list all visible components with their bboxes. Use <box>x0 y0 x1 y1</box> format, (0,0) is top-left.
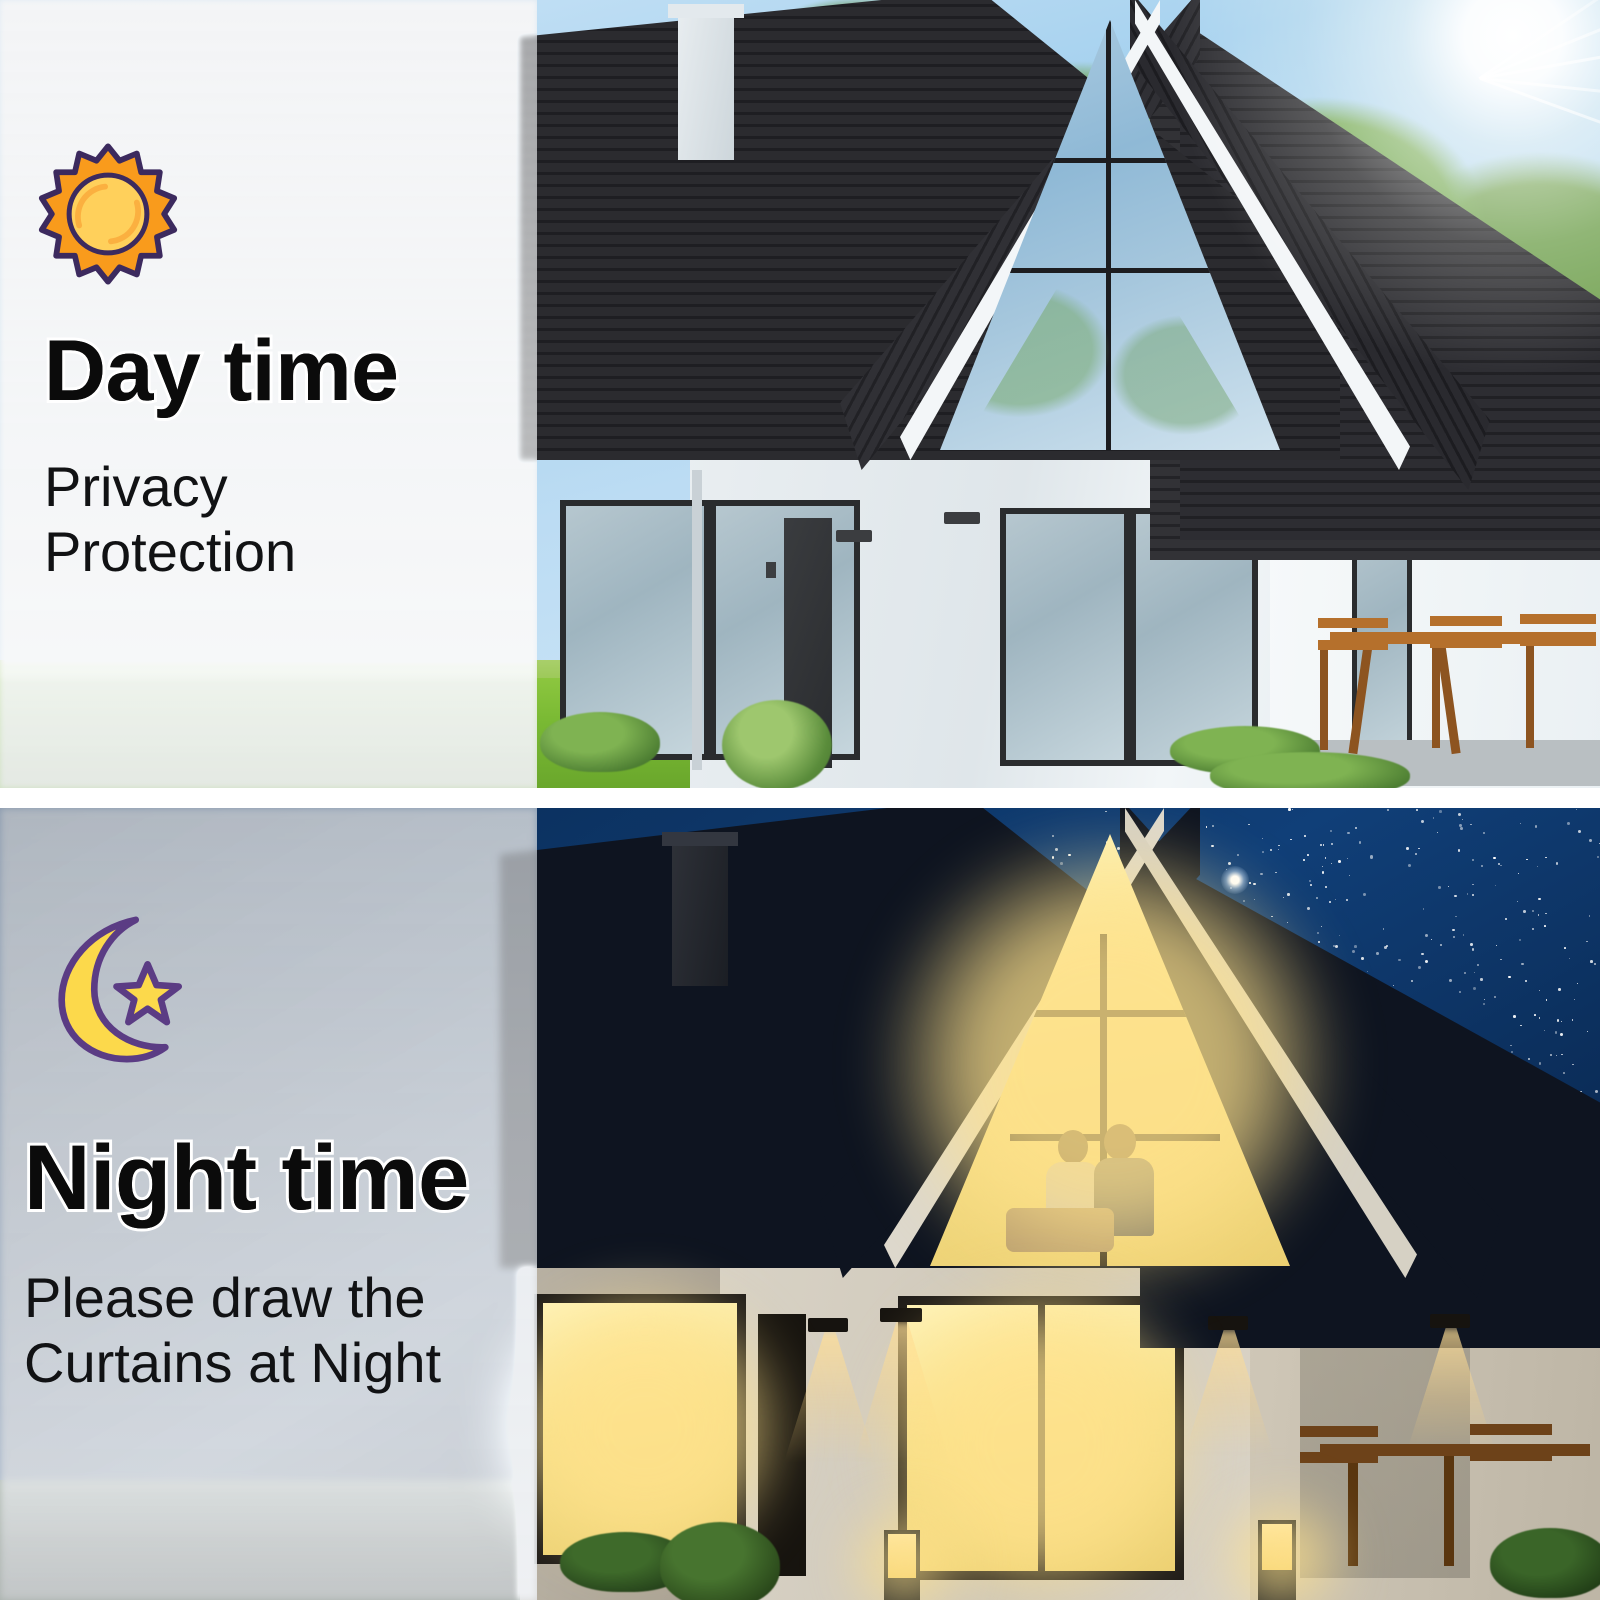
patio-chair-3-back <box>1520 614 1596 624</box>
night-shrub-3 <box>1490 1528 1600 1598</box>
day-subtitle-line-1: Privacy <box>44 455 296 520</box>
night-chair-2-slat <box>1470 1450 1552 1461</box>
night-chair-1-back <box>1300 1426 1378 1437</box>
day-subtitle-line-2: Protection <box>44 520 296 585</box>
patio-chair-1-back <box>1318 618 1388 628</box>
patio-chair-3-leg <box>1526 646 1534 748</box>
patio-chair-2-slat <box>1430 638 1502 648</box>
wall-lamp-patio-icon <box>944 512 980 524</box>
day-subtitle: Privacy Protection <box>44 455 296 585</box>
night-table-leg-2 <box>1444 1456 1454 1566</box>
night-time-panel: Night time Night time Please draw the Cu… <box>0 808 1600 1600</box>
day-time-panel: Day time Day time Privacy Protection <box>0 0 1600 788</box>
night-subtitle: Please draw the Curtains at Night <box>24 1266 441 1396</box>
night-sconce-2-icon <box>880 1308 922 1322</box>
patio-chair-2-leg <box>1432 648 1440 748</box>
night-chimney-cap <box>662 832 738 846</box>
night-sconce-4-icon <box>1430 1314 1470 1328</box>
patio-door-pane-1 <box>1006 514 1124 760</box>
panel-divider <box>0 788 1600 808</box>
night-chair-2-back <box>1470 1424 1552 1435</box>
comparison-stage: Day time Day time Privacy Protection <box>0 0 1600 1600</box>
moon-star-icon <box>40 908 190 1068</box>
night-chimney <box>672 838 728 986</box>
downpipe <box>692 470 702 770</box>
night-subtitle-line-1: Please draw the <box>24 1266 441 1331</box>
gable-window-glow <box>880 828 1340 1298</box>
patio-chair-1-slat <box>1318 640 1388 650</box>
chimney <box>678 10 734 160</box>
wall-lamp-entry-icon <box>836 530 872 542</box>
patio-chair-2-back <box>1430 616 1502 626</box>
night-table-leg-1 <box>1348 1456 1358 1566</box>
chimney-cap <box>668 4 744 18</box>
night-subtitle-line-2: Curtains at Night <box>24 1331 441 1396</box>
shrub-flowering <box>722 700 832 788</box>
patio-chair-3-slat <box>1520 636 1596 646</box>
night-chair-1-slat <box>1300 1452 1378 1463</box>
day-title: Day time <box>44 322 399 421</box>
night-sconce-1-icon <box>808 1318 848 1332</box>
doorbell-icon <box>766 562 776 578</box>
night-sconce-3-icon <box>1208 1316 1248 1330</box>
night-title: Night time <box>24 1126 469 1231</box>
night-shrub-2 <box>660 1522 780 1600</box>
shrub-1 <box>540 712 660 772</box>
sun-flare <box>1110 0 1600 410</box>
patio-chair-1-leg <box>1320 650 1328 750</box>
sun-icon <box>36 142 180 286</box>
